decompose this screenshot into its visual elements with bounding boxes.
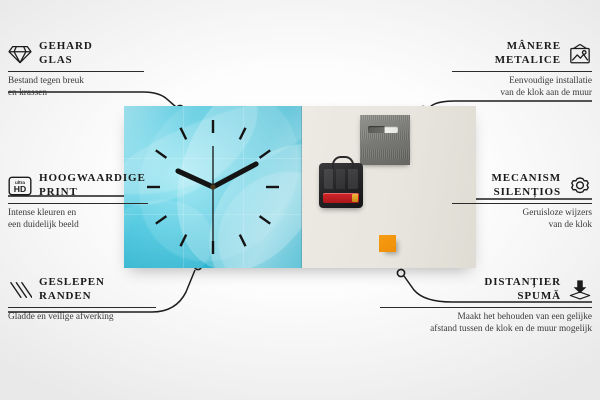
feature-silent-mechanism: MECANISM SILENȚIOS Geruisloze wijzers va… (452, 172, 592, 231)
divider (452, 71, 592, 72)
feature-title: MÂNERE METALICE (495, 40, 561, 67)
feature-subtitle: Maakt het behouden van een gelijke afsta… (380, 312, 592, 335)
diagonal-lines-icon (8, 279, 32, 301)
clock-dial (124, 106, 302, 268)
feature-subtitle: Intense kleuren en een duidelijk beeld (8, 208, 148, 231)
quartz-mechanism-box (319, 163, 363, 208)
clock-back-panel (302, 106, 476, 268)
mechanism-hanger-loop (332, 156, 354, 170)
feature-ground-edges: GESLEPEN RANDEN Gladde en veilige afwerk… (8, 276, 156, 324)
metal-hanger-plate (360, 115, 410, 165)
divider (452, 203, 592, 204)
feature-subtitle: Bestand tegen breuk en krassen (8, 76, 144, 99)
gear-icon (568, 175, 592, 197)
picture-frame-icon (568, 43, 592, 65)
divider (380, 307, 592, 308)
divider (8, 71, 144, 72)
battery (323, 193, 359, 203)
feature-title: DISTANȚIER SPUMĂ (484, 276, 561, 303)
feature-subtitle: Eenvoudige installatie van de klok aan d… (452, 76, 592, 99)
hand-cap (210, 184, 215, 189)
ultra-hd-icon: ultra HD (8, 175, 32, 197)
product-image (124, 106, 476, 268)
feature-tempered-glass: GEHARD GLAS Bestand tegen breuk en krass… (8, 40, 144, 99)
svg-text:HD: HD (14, 184, 26, 194)
feature-title: HOOGWAARDIGE PRINT (39, 172, 146, 199)
diamond-icon (8, 43, 32, 65)
feature-subtitle: Gladde en veilige afwerking (8, 312, 156, 324)
minute-hand (213, 164, 256, 187)
divider (8, 307, 156, 308)
mechanism-label (324, 169, 358, 189)
hanger-slot (368, 126, 398, 133)
feature-title: MECANISM SILENȚIOS (491, 172, 561, 199)
hour-hand (178, 171, 213, 187)
feature-high-quality-print: ultra HD HOOGWAARDIGE PRINT Intense kleu… (8, 172, 148, 231)
foam-spacer-piece (379, 235, 396, 252)
divider (8, 203, 148, 204)
feature-title: GEHARD GLAS (39, 40, 93, 67)
clock-face-panel (124, 106, 302, 268)
feature-foam-spacer: DISTANȚIER SPUMĂ Maakt het behouden van … (380, 276, 592, 335)
feature-subtitle: Geruisloze wijzers van de klok (452, 208, 592, 231)
arrow-down-layers-icon (568, 279, 592, 301)
infographic-canvas: GEHARD GLAS Bestand tegen breuk en krass… (0, 0, 600, 400)
feature-title: GESLEPEN RANDEN (39, 276, 105, 303)
battery-terminal (352, 194, 358, 202)
feature-metal-handles: MÂNERE METALICE Eenvoudige installatie v… (452, 40, 592, 99)
